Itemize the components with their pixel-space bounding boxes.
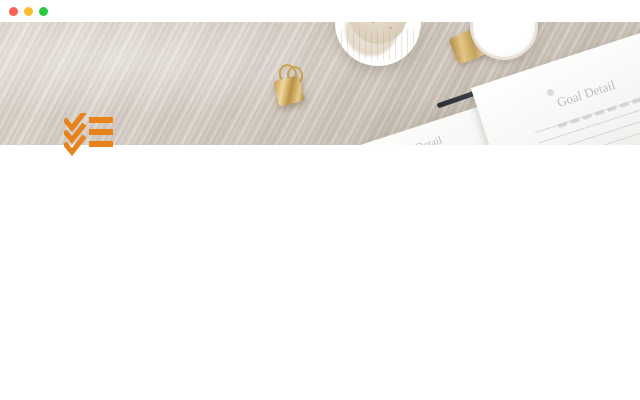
app-window: Goal Detail Goal Detail [template] Habit… bbox=[0, 0, 640, 400]
window-titlebar bbox=[0, 0, 640, 22]
window-close-button[interactable] bbox=[9, 7, 18, 16]
checklist-icon[interactable] bbox=[64, 113, 114, 157]
window-zoom-button[interactable] bbox=[39, 7, 48, 16]
window-minimize-button[interactable] bbox=[24, 7, 33, 16]
page-body bbox=[0, 145, 640, 400]
